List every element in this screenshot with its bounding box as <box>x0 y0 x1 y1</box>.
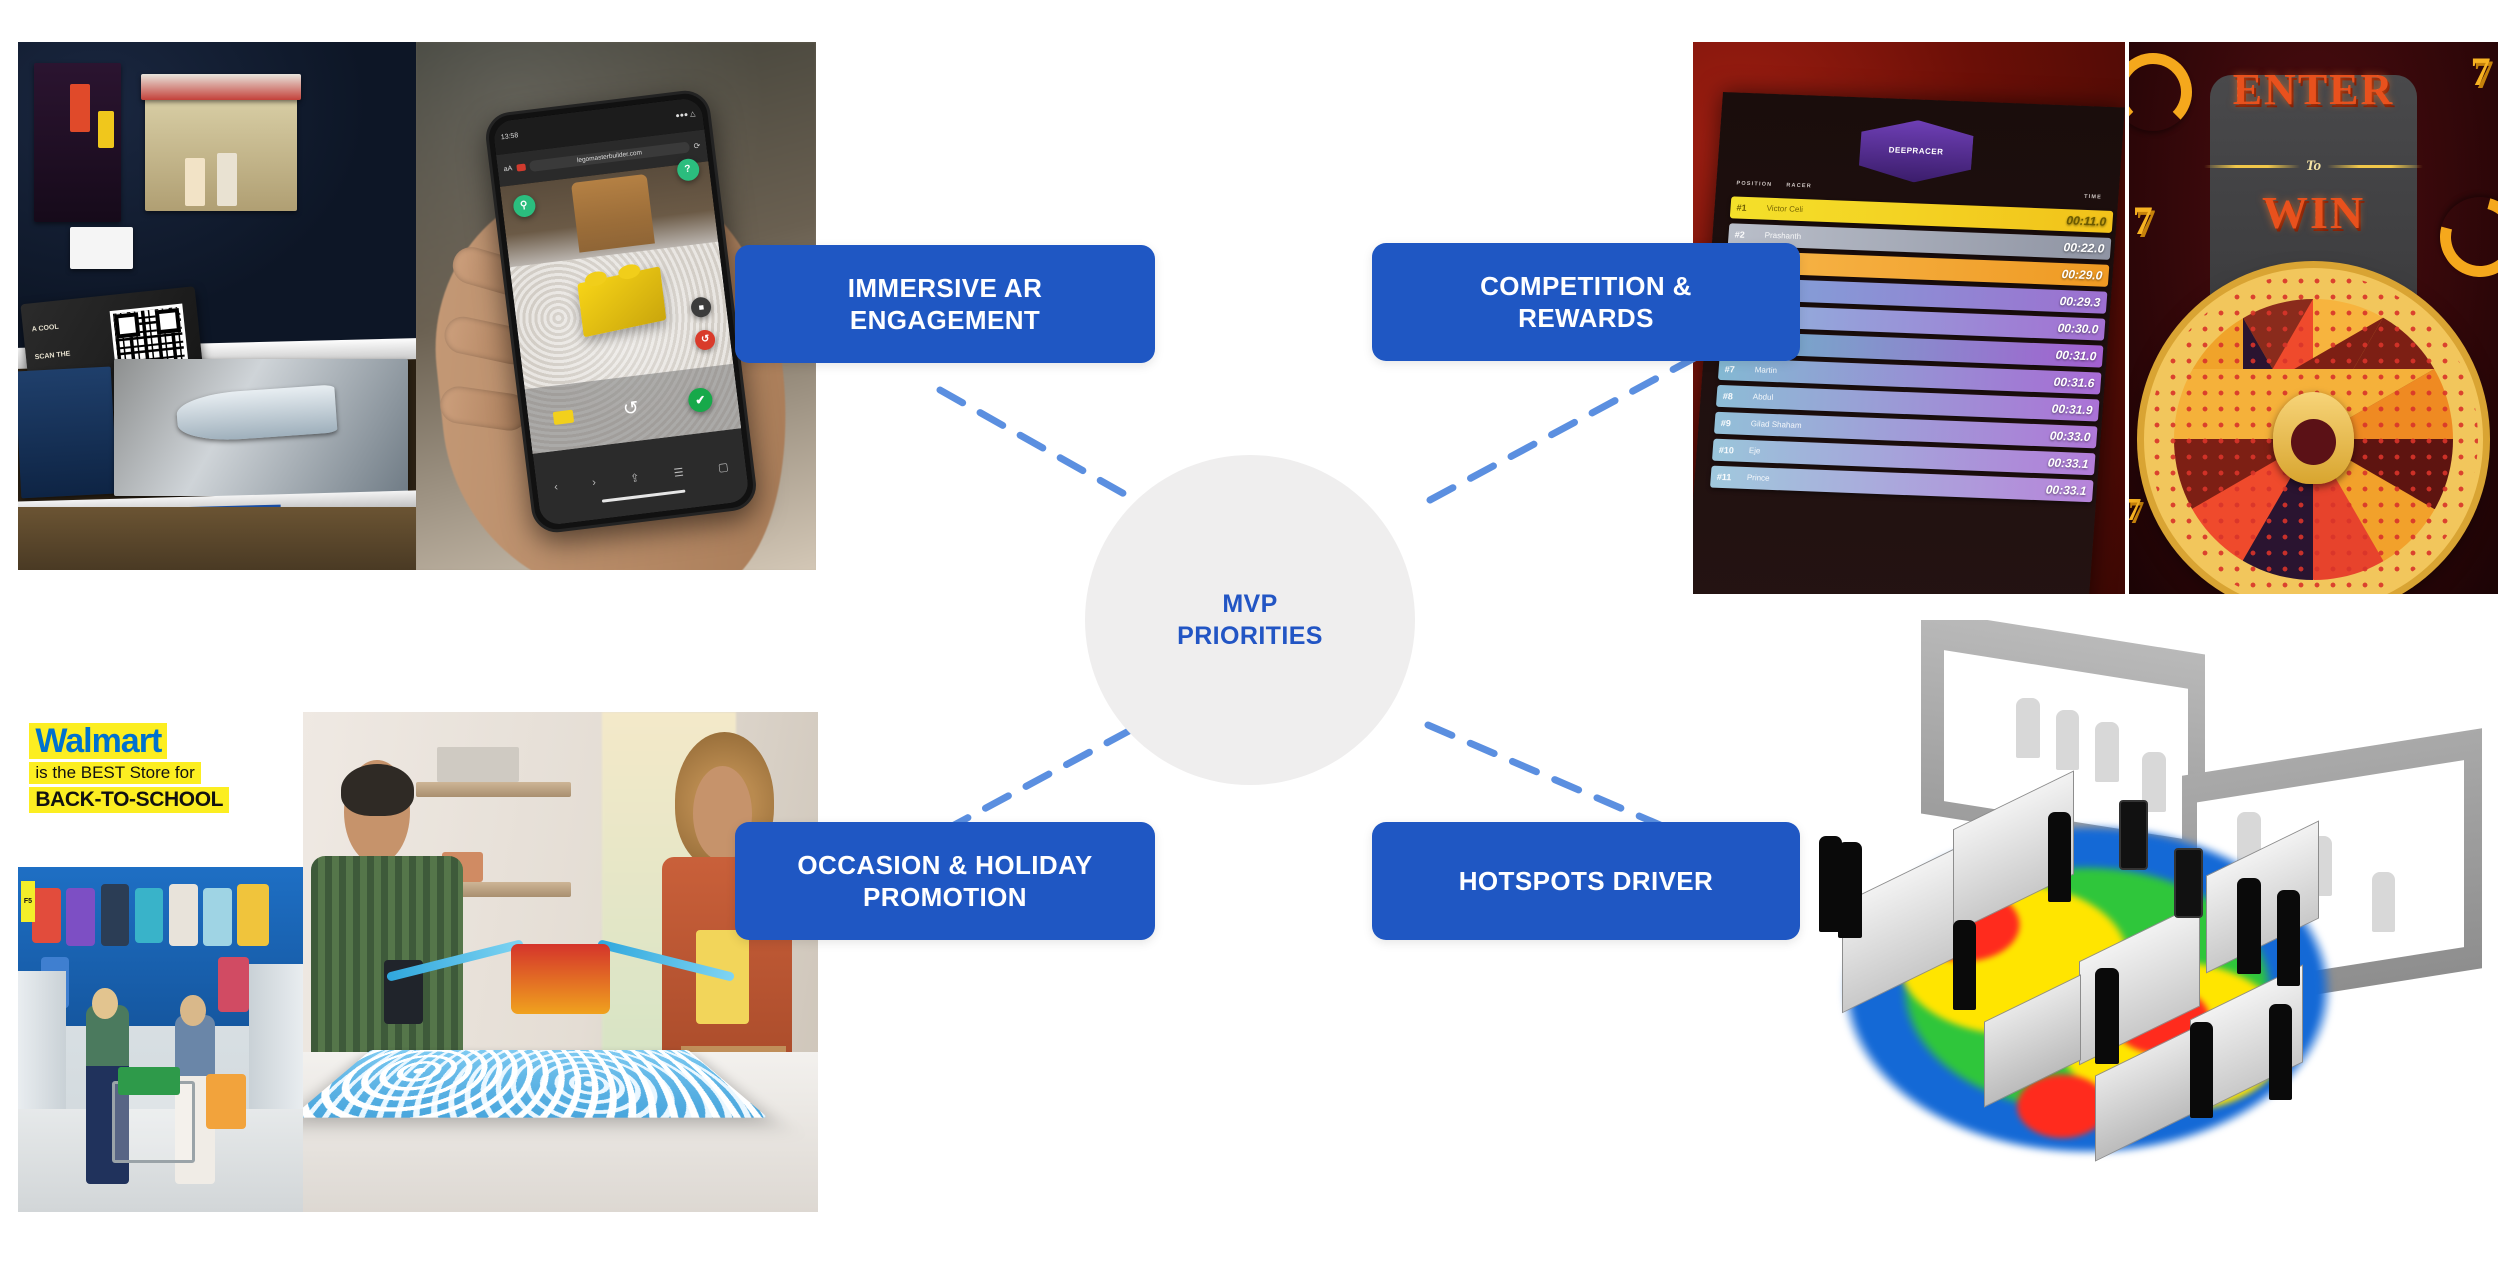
card-line-1: COMPETITION & <box>1480 271 1692 301</box>
enter-to-win-title-line1: ENTER <box>2129 64 2498 115</box>
lunch-bag <box>206 1074 246 1129</box>
hair <box>341 764 414 816</box>
tile-kitchen-ar-dragon <box>303 712 818 1212</box>
row-racer: Eje <box>1749 446 2049 466</box>
qr-sign-text: A COOL <box>31 321 88 336</box>
card-competition-rewards[interactable]: COMPETITION & REWARDS <box>1372 243 1800 361</box>
digital-kiosk[interactable] <box>2119 800 2148 870</box>
row-time: 00:22.0 <box>2063 240 2105 256</box>
connector-bottom-left <box>945 725 1140 830</box>
phone-screen: 13:58 ●●● △ aA legomasterbuilder.com ⟳ ⚲… <box>492 97 750 527</box>
card-line-2: ENGAGEMENT <box>850 305 1040 335</box>
digital-kiosk[interactable] <box>2174 848 2203 918</box>
wheel-hub <box>2273 392 2354 484</box>
lego-minifigure <box>98 111 114 148</box>
backpack <box>169 884 198 946</box>
share-icon[interactable]: ⇪ <box>630 471 641 485</box>
shopper-silhouette <box>1838 842 1862 938</box>
deepracer-logo: DEEPRACER <box>1858 118 1975 184</box>
row-time: 00:33.1 <box>2046 482 2088 498</box>
backpack <box>101 884 130 946</box>
row-racer: Gilad Shaham <box>1751 419 2051 439</box>
header-time: TIME <box>2084 194 2102 201</box>
store-floor <box>18 507 416 570</box>
shopper-head <box>92 988 118 1019</box>
header-racer: RACER <box>1786 182 1812 189</box>
row-racer: Victor Celi <box>1767 204 2067 224</box>
connector-top-left <box>940 390 1135 500</box>
walmart-aisle-photo: F5 <box>18 867 303 1212</box>
lego-minifigure <box>217 153 237 206</box>
connector-bottom-right <box>1428 725 1660 825</box>
lego-minifigure <box>70 84 90 132</box>
shopper-silhouette <box>2048 812 2072 902</box>
back-icon[interactable]: ‹ <box>554 482 559 494</box>
record-icon <box>516 164 526 172</box>
ar-ocean-baseplate <box>303 1050 768 1118</box>
row-position: #10 <box>1719 444 1750 455</box>
status-time: 13:58 <box>500 132 518 141</box>
row-time: 00:33.1 <box>2048 455 2090 471</box>
ar-lego-creature <box>385 932 735 1032</box>
tile-walmart-back-to-school: Walmart is the BEST Store for BACK-TO-SC… <box>18 712 303 1212</box>
row-time: 00:11.0 <box>2066 213 2107 228</box>
backpack <box>66 888 95 947</box>
status-icons: ●●● △ <box>675 110 696 120</box>
row-racer: Prashanth <box>1765 231 2065 251</box>
card-occasion-holiday-promotion[interactable]: OCCASION & HOLIDAY PROMOTION <box>735 822 1155 940</box>
mvp-priorities-diagram: A COOL SCAN THE CITY 13:58 <box>0 0 2500 1264</box>
walmart-tagline: is the BEST Store for <box>29 762 200 784</box>
lego-build-roof <box>141 74 300 100</box>
ar-waves <box>303 1050 768 1118</box>
card-line-1: IMMERSIVE AR <box>848 273 1043 303</box>
text-size-icon[interactable]: aA <box>503 166 512 174</box>
row-time: 00:30.0 <box>2057 320 2099 336</box>
enter-to-win-connector: To <box>2306 158 2321 175</box>
lego-minifigure <box>185 158 205 206</box>
connector-top-right <box>1430 355 1700 500</box>
row-time: 00:31.9 <box>2051 401 2093 417</box>
row-racer: Daniel Wu <box>1761 284 2061 304</box>
header-position: POSITION <box>1736 180 1772 187</box>
walmart-logo: Walmart <box>29 723 167 759</box>
price-label <box>70 227 134 269</box>
card-line-1: HOTSPOTS DRIVER <box>1459 866 1713 896</box>
shopper-silhouette-light <box>2016 698 2040 758</box>
row-position: #2 <box>1735 229 1766 240</box>
forward-icon[interactable]: › <box>592 477 597 489</box>
tile-lego-retail-shelf: A COOL SCAN THE CITY <box>18 42 416 570</box>
rotate-icon[interactable]: ↺ <box>622 396 641 421</box>
row-racer: Martin <box>1755 365 2055 385</box>
shopper-silhouette <box>2269 1004 2293 1100</box>
shopper-silhouette <box>2190 1022 2214 1118</box>
row-time: 00:29.0 <box>2061 266 2103 282</box>
row-time: 00:29.3 <box>2059 293 2101 309</box>
hub-line-2: PRIORITIES <box>1177 622 1323 650</box>
qr-sign-subtext: SCAN THE <box>34 348 98 363</box>
row-time: 00:31.6 <box>2053 374 2095 390</box>
tabs-icon[interactable]: ▢ <box>717 460 729 474</box>
shopper-silhouette <box>2095 968 2119 1064</box>
card-immersive-ar-engagement[interactable]: IMMERSIVE AR ENGAGEMENT <box>735 245 1155 363</box>
shopper-silhouette <box>2277 890 2301 986</box>
row-racer: okiyasu <box>1759 311 2059 331</box>
card-line-2: PROMOTION <box>863 882 1027 912</box>
creature-wing-left <box>386 939 524 982</box>
aisle-tag: F5 <box>21 881 35 922</box>
backpack <box>135 888 164 943</box>
confirm-icon[interactable]: ✔ <box>687 387 714 414</box>
hub-line-1: MVP <box>1222 590 1277 618</box>
walmart-headline: BACK-TO-SCHOOL <box>29 787 229 813</box>
creature-body <box>511 944 609 1014</box>
row-racer: TMac <box>1757 338 2057 358</box>
row-racer: Abdul <box>1753 392 2053 412</box>
row-position: #8 <box>1723 390 1754 401</box>
card-line-2: REWARDS <box>1518 303 1654 333</box>
reload-icon[interactable]: ⟳ <box>693 142 701 152</box>
tile-enter-to-win-wheel: 7 7 7 ENTER To WIN 200$POPUNDER300$50$YO… <box>2129 42 2498 594</box>
prize-wheel[interactable]: 200$POPUNDER300$50$YOU WON!350$150$SOCIA… <box>2144 268 2483 594</box>
backpack <box>218 957 249 1012</box>
row-racer: Prince <box>1747 473 2047 493</box>
hub-mvp-priorities: MVP PRIORITIES <box>1085 455 1415 785</box>
row-position: #9 <box>1721 417 1752 428</box>
hint-bulb-icon[interactable]: ⚲ <box>512 194 537 219</box>
row-time: 00:33.0 <box>2049 428 2091 444</box>
bookmarks-icon[interactable]: ☰ <box>673 466 684 480</box>
row-position: #1 <box>1737 202 1768 213</box>
shopper-silhouette <box>2237 878 2261 974</box>
backpack <box>203 888 232 947</box>
creature-wing-right <box>597 939 735 982</box>
enter-to-win-title-line2: WIN <box>2129 186 2498 239</box>
row-position: #7 <box>1725 364 1756 375</box>
enter-to-win-divider: To <box>2129 158 2498 175</box>
tile-store-heatmap <box>1700 620 2490 1220</box>
shopper-head <box>180 995 206 1026</box>
card-hotspots-driver[interactable]: HOTSPOTS DRIVER <box>1372 822 1800 940</box>
brick-thumbnail-icon[interactable] <box>553 409 574 424</box>
seven-symbol-icon: 7 <box>2129 491 2141 528</box>
card-line-1: OCCASION & HOLIDAY <box>797 850 1092 880</box>
backpack <box>237 884 268 946</box>
shopper-silhouette <box>1953 920 1977 1010</box>
row-position: #11 <box>1717 471 1748 482</box>
row-racer: Xavier <box>1763 257 2063 277</box>
lego-boxed-set <box>18 367 117 499</box>
backpack <box>32 888 61 943</box>
cart-item <box>118 1067 181 1095</box>
row-time: 00:31.0 <box>2055 347 2097 363</box>
walmart-banner: Walmart is the BEST Store for BACK-TO-SC… <box>18 712 303 867</box>
chair <box>571 174 655 253</box>
